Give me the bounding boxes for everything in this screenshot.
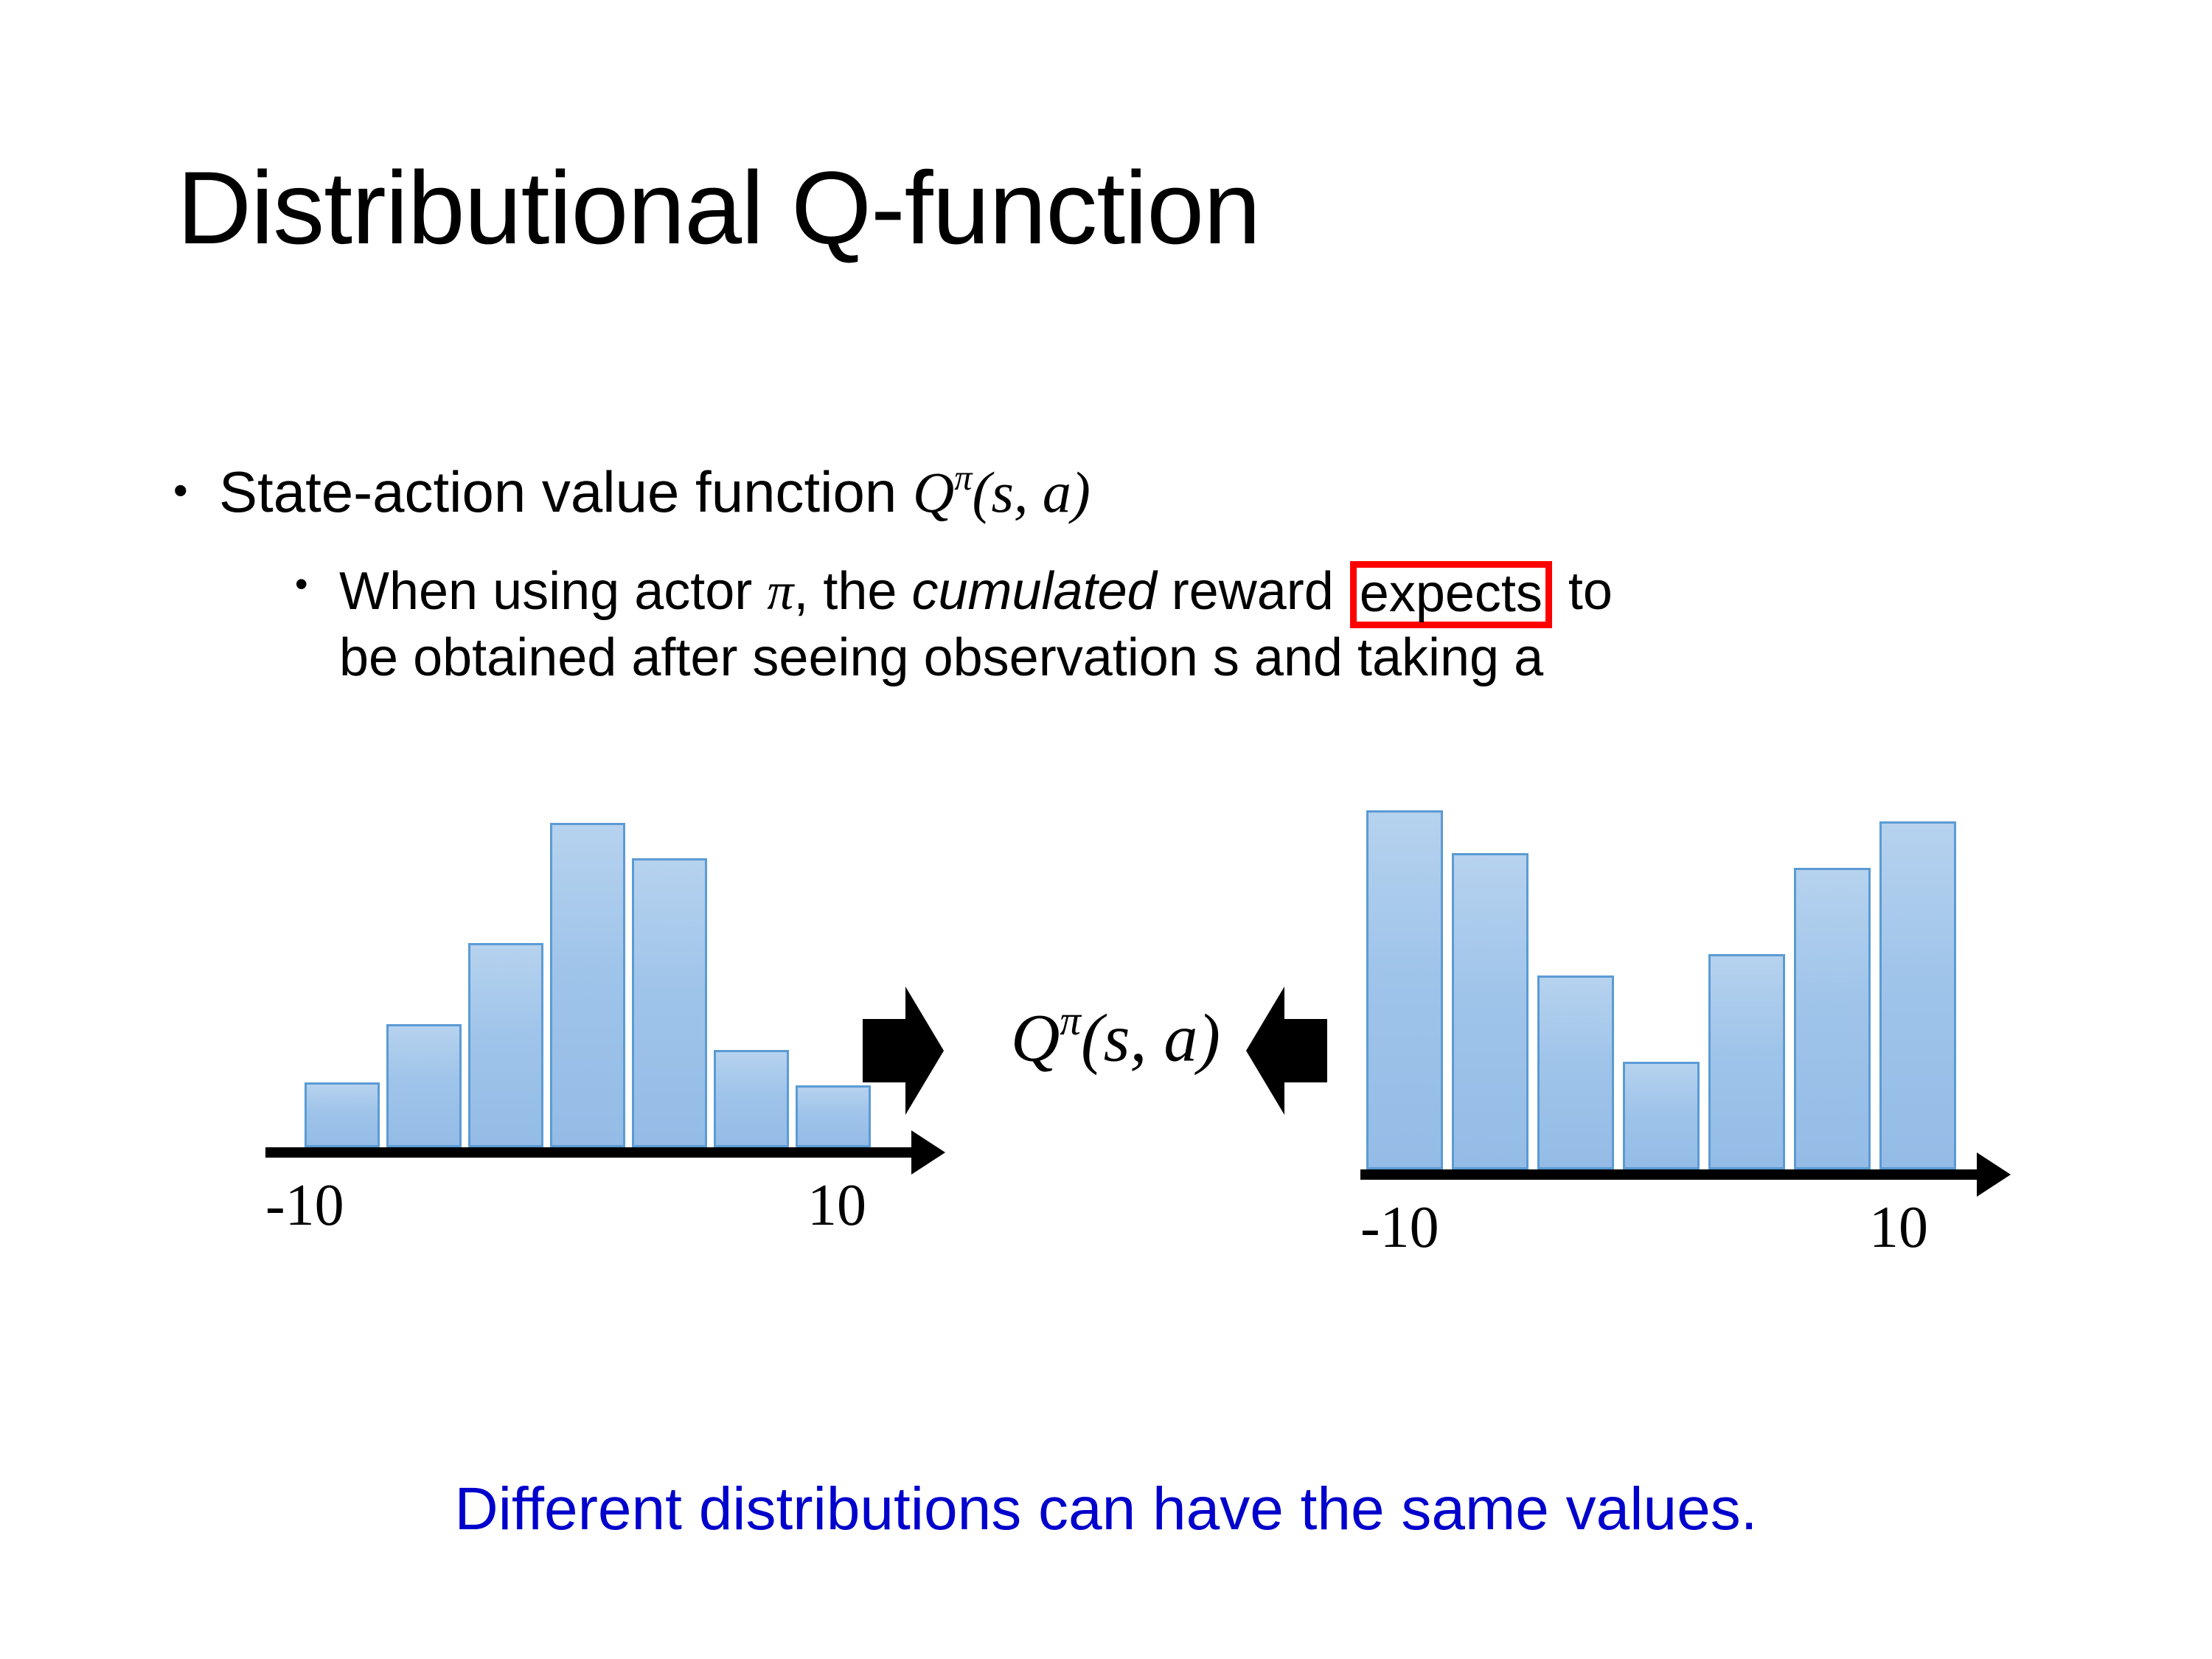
bullet2-part3: reward <box>1157 562 1349 621</box>
bullet2-part4: to <box>1554 562 1613 621</box>
center-equivalence-group: Qπ(s, a) <box>863 981 1379 1143</box>
histogram-bar <box>468 943 543 1147</box>
histogram-bar <box>1708 954 1785 1169</box>
left-chart-tick-min: -10 <box>265 1172 344 1239</box>
center-formula-args: (s, a) <box>1081 1000 1220 1075</box>
bullet-level-1-text: State-action value function <box>219 459 913 524</box>
left-distribution-chart: -10 10 <box>265 804 951 1217</box>
histogram-bar <box>632 858 707 1147</box>
bullet-level-2: • When using actor π, the cumulated rewa… <box>295 559 2013 690</box>
histogram-bar <box>1537 975 1614 1169</box>
arrow-right-block-icon <box>863 981 944 1121</box>
page-title: Distributional Q-function <box>177 156 2020 260</box>
q-formula-args: (s, a) <box>973 460 1091 524</box>
bullet2-line2: be obtained after seeing observation s a… <box>339 628 1543 687</box>
bullet-marker-icon: • <box>295 562 308 607</box>
histogram-bar <box>1879 821 1956 1169</box>
pi-symbol: π <box>767 562 793 621</box>
right-chart-tick-max: 10 <box>1869 1194 1928 1262</box>
caption-text: Different distributions can have the sam… <box>0 1475 2212 1544</box>
right-distribution-chart: -10 10 <box>1360 804 2024 1239</box>
histogram-bar <box>796 1085 871 1147</box>
center-q-function-formula: Qπ(s, a) <box>994 997 1237 1077</box>
histogram-bar <box>1452 853 1528 1169</box>
bullet2-part1: When using actor <box>339 562 767 621</box>
q-function-formula: Qπ(s, a) <box>913 460 1091 524</box>
histogram-bar <box>305 1082 380 1147</box>
q-formula-superscript: π <box>954 459 972 498</box>
bullet-level-1: •State-action value function Qπ(s, a) <box>173 459 2090 524</box>
right-chart-axis <box>1360 1169 1980 1180</box>
histogram-bar <box>550 823 625 1147</box>
bullet2-part2: , the <box>793 562 911 621</box>
right-chart-axis-arrow-icon <box>1977 1152 2011 1197</box>
left-chart-axis <box>265 1147 914 1158</box>
bullet-marker-icon: • <box>173 467 219 514</box>
highlight-box-expects: expects <box>1350 561 1552 628</box>
q-formula-base: Q <box>913 460 954 524</box>
histogram-bar <box>714 1050 789 1147</box>
bullet2-emphasis-cumulated: cumulated <box>911 562 1156 621</box>
center-formula-base: Q <box>1011 1000 1060 1075</box>
center-formula-superscript: π <box>1060 998 1081 1044</box>
left-chart-tick-max: 10 <box>807 1172 866 1239</box>
bullet-level-2-text: When using actor π, the cumulated reward… <box>339 559 2013 690</box>
histogram-bar <box>1366 810 1443 1169</box>
histogram-bar <box>386 1024 462 1147</box>
histogram-bar <box>1623 1062 1700 1169</box>
right-chart-tick-min: -10 <box>1360 1194 1439 1262</box>
arrow-left-block-icon <box>1246 981 1327 1121</box>
histogram-bar <box>1794 868 1871 1169</box>
